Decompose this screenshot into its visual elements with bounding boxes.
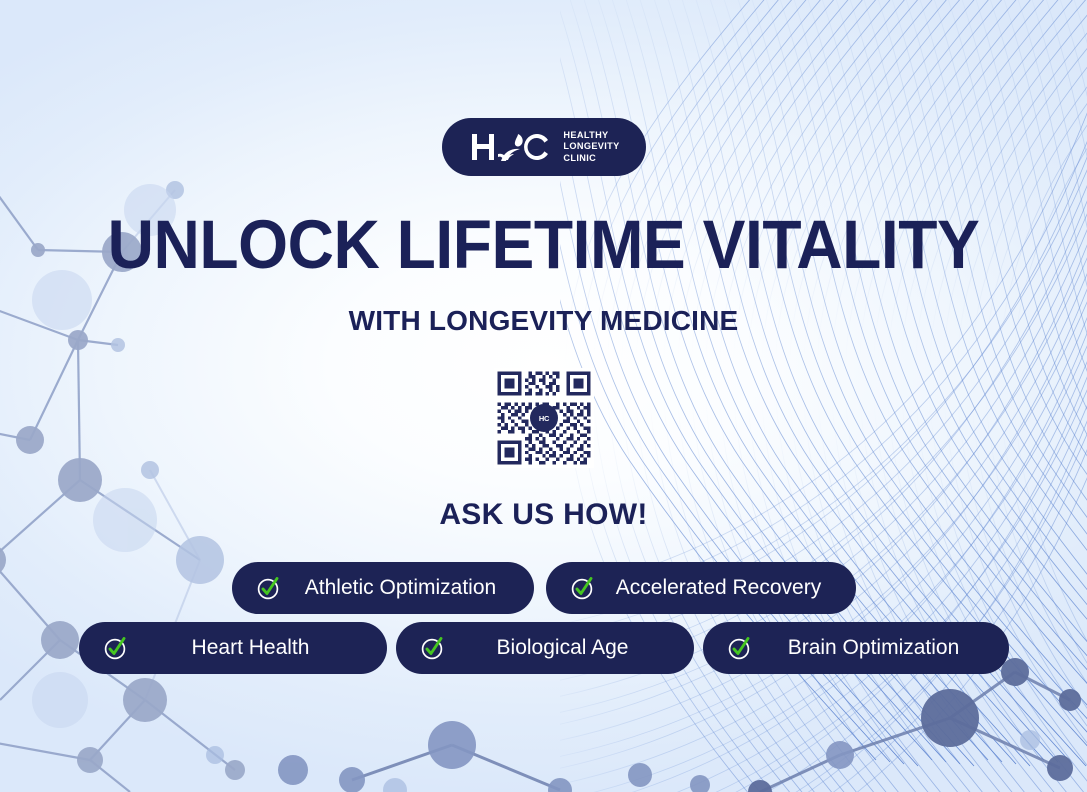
benefit-label: Heart Health [139, 636, 363, 660]
benefit-pill-accelerated-recovery[interactable]: Accelerated Recovery [546, 562, 856, 614]
benefit-label: Accelerated Recovery [606, 576, 832, 600]
benefit-pill-brain-optimization[interactable]: Brain Optimization [703, 622, 1009, 674]
benefits-row-1: Athletic Optimization Accelerated Recove… [0, 562, 1087, 614]
logo-line-healthy: HEALTHY [563, 130, 619, 142]
check-circle-icon [570, 575, 596, 601]
benefit-pill-biological-age[interactable]: Biological Age [396, 622, 694, 674]
benefit-label: Athletic Optimization [292, 576, 510, 600]
check-circle-icon [103, 635, 129, 661]
benefit-label: Brain Optimization [763, 636, 985, 660]
benefits-row-2: Heart Health Biological Age Brain Optimi… [0, 622, 1087, 674]
check-circle-icon [256, 575, 282, 601]
logo-line-longevity: LONGEVITY [563, 141, 619, 153]
page-title: UNLOCK LIFETIME VITALITY [38, 210, 1049, 279]
benefit-label: Biological Age [456, 636, 670, 660]
brand-logo-badge[interactable]: HEALTHY LONGEVITY CLINIC [442, 118, 646, 176]
brand-logo-wordmark: HEALTHY LONGEVITY CLINIC [563, 130, 619, 165]
page-subtitle: WITH LONGEVITY MEDICINE [0, 305, 1087, 337]
check-circle-icon [727, 635, 753, 661]
check-circle-icon [420, 635, 446, 661]
cta-text: ASK US HOW! [0, 498, 1087, 532]
hlc-monogram-icon [468, 130, 554, 164]
logo-line-clinic: CLINIC [563, 153, 619, 165]
poster-canvas: HEALTHY LONGEVITY CLINIC UNLOCK LIFETIME… [0, 0, 1087, 792]
benefit-pill-heart-health[interactable]: Heart Health [79, 622, 387, 674]
qr-center-logo: HC [530, 404, 558, 432]
benefit-pill-athletic-optimization[interactable]: Athletic Optimization [232, 562, 534, 614]
qr-code[interactable]: HC [494, 368, 594, 468]
